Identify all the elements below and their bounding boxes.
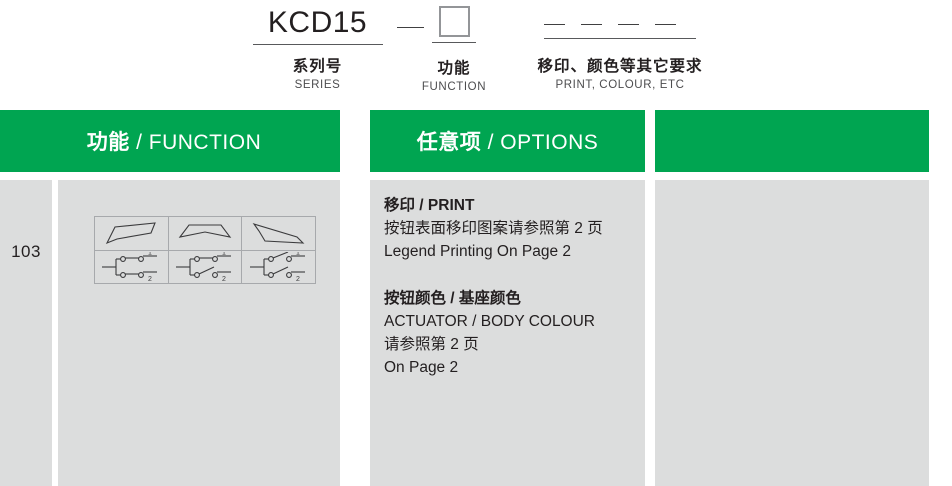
rocker-actuator-up-icon xyxy=(95,217,168,251)
options-spacer xyxy=(384,263,635,287)
print-label-en: PRINT, COLOUR, ETC xyxy=(520,79,720,91)
table-header-options-label: 任意项 / OPTIONS xyxy=(417,126,599,156)
circuit-both-open-icon: 1 2 xyxy=(242,251,315,284)
switch-diagram-1: 1 2 xyxy=(95,217,169,283)
header-function-sep: / xyxy=(130,131,149,154)
options-colour-en: On Page 2 xyxy=(384,356,635,379)
series-label-cn: 系列号 xyxy=(245,54,390,76)
terminal-label-2: 2 xyxy=(222,276,226,282)
options-text-block: 移印 / PRINT 按钮表面移印图案请参照第 2 页 Legend Print… xyxy=(384,194,635,379)
header-options-en: OPTIONS xyxy=(500,131,598,154)
series-code-text: KCD15 xyxy=(245,4,390,42)
terminal-label-1: 1 xyxy=(296,252,300,257)
options-colour-cn: 请参照第 2 页 xyxy=(384,333,635,356)
header-options-cn: 任意项 xyxy=(417,131,482,154)
spec-table: 功能 / FUNCTION 任意项 / OPTIONS 103 xyxy=(0,110,952,486)
code-group-print: 移印、颜色等其它要求 PRINT, COLOUR, ETC xyxy=(520,4,720,91)
function-underline xyxy=(432,42,476,43)
switch-diagram-2: 1 2 xyxy=(169,217,243,283)
function-label-cn: 功能 xyxy=(398,56,510,78)
series-label-en: SERIES xyxy=(245,79,390,91)
table-header-function: 功能 / FUNCTION xyxy=(0,110,340,172)
options-colour-title-cn: 按钮颜色 / 基座颜色 xyxy=(384,287,635,310)
empty-square-box-icon[interactable] xyxy=(439,6,470,37)
row-id-value: 103 xyxy=(11,242,41,262)
table-header-extra xyxy=(655,110,929,172)
code-group-function: 功能 FUNCTION xyxy=(398,4,510,93)
options-colour-title-en: ACTUATOR / BODY COLOUR xyxy=(384,310,635,333)
terminal-label-2: 2 xyxy=(296,276,300,282)
table-header-options: 任意项 / OPTIONS xyxy=(370,110,645,172)
code-group-series: KCD15 系列号 SERIES xyxy=(245,4,390,91)
terminal-label-1: 1 xyxy=(222,252,226,257)
series-underline xyxy=(253,44,383,45)
options-print-en: Legend Printing On Page 2 xyxy=(384,240,635,263)
rocker-actuator-down-icon xyxy=(242,217,315,251)
series-code-block: KCD15 xyxy=(245,4,390,48)
header-function-en: FUNCTION xyxy=(149,131,262,154)
print-label-cn: 移印、颜色等其它要求 xyxy=(520,54,720,76)
table-header-function-label: 功能 / FUNCTION xyxy=(87,126,262,156)
circuit-top-closed-bottom-open-icon: 1 2 xyxy=(169,251,242,284)
options-print-title: 移印 / PRINT xyxy=(384,194,635,217)
rocker-actuator-center-icon xyxy=(169,217,242,251)
table-cell-options: 移印 / PRINT 按钮表面移印图案请参照第 2 页 Legend Print… xyxy=(370,180,645,486)
print-underline xyxy=(544,38,696,39)
terminal-label-1: 1 xyxy=(148,252,152,257)
circuit-both-closed-icon: 1 2 xyxy=(95,251,168,284)
function-label-en: FUNCTION xyxy=(398,81,510,93)
terminal-label-2: 2 xyxy=(148,276,152,282)
table-cell-id: 103 xyxy=(0,180,52,486)
four-dashes-icon xyxy=(520,4,720,37)
print-code-block xyxy=(520,4,720,48)
function-code-block xyxy=(398,6,510,50)
header-options-sep: / xyxy=(481,131,500,154)
product-code-header: KCD15 系列号 SERIES 功能 FUNCTION 移印、颜色等其它要求 … xyxy=(0,0,952,108)
options-print-cn: 按钮表面移印图案请参照第 2 页 xyxy=(384,217,635,240)
switch-diagram-3: 1 2 xyxy=(242,217,315,283)
table-cell-function: 1 2 xyxy=(58,180,340,486)
table-cell-extra xyxy=(655,180,929,486)
switch-diagram-table: 1 2 xyxy=(94,216,316,284)
header-function-cn: 功能 xyxy=(87,131,130,154)
